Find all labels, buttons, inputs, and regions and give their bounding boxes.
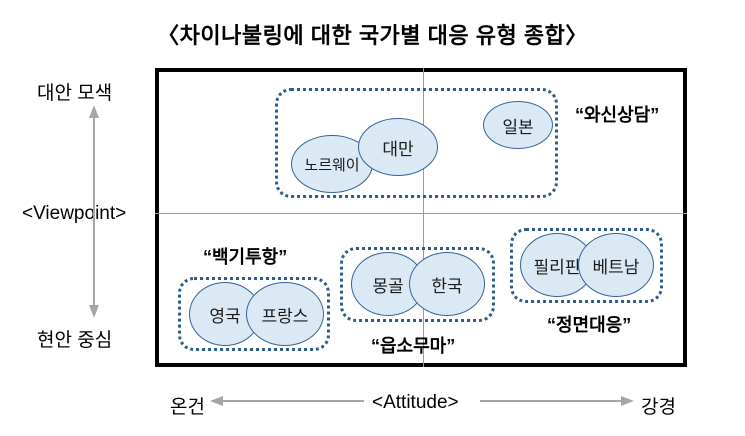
node-france[interactable]: 프랑스 <box>246 282 324 346</box>
group-caption-bottom-right: “정면대응” <box>547 311 631 337</box>
group-caption-bottom-left: “백기투항” <box>203 243 287 269</box>
group-caption-bottom-center: “읍소무마” <box>371 332 455 358</box>
node-label: 영국 <box>209 302 240 327</box>
node-label: 한국 <box>431 272 462 297</box>
node-japan[interactable]: 일본 <box>483 101 553 149</box>
x-axis-right-arrow-icon <box>480 393 635 409</box>
node-taiwan[interactable]: 대만 <box>358 118 438 176</box>
node-label: 프랑스 <box>262 302 309 327</box>
x-axis-left-label: 온건 <box>170 392 205 419</box>
x-axis-right-label: 강경 <box>641 392 676 419</box>
node-label: 노르웨이 <box>304 154 359 175</box>
quadrant-line-horizontal <box>155 213 687 214</box>
y-axis-top-label: 대안 모색 <box>37 78 112 105</box>
page-title: 〈차이나불링에 대한 국가별 대응 유형 종합〉 <box>0 18 745 50</box>
node-label: 몽골 <box>372 272 403 297</box>
node-vietnam[interactable]: 베트남 <box>578 233 654 297</box>
y-axis-double-arrow-icon <box>86 104 102 319</box>
node-label: 일본 <box>502 113 533 138</box>
group-caption-top: “와신상담” <box>575 101 659 127</box>
y-axis-title: <Viewpoint> <box>22 203 126 225</box>
y-axis-bottom-label: 현안 중심 <box>37 325 112 352</box>
node-label: 베트남 <box>593 253 640 278</box>
node-label: 대만 <box>382 135 413 160</box>
node-label: 필리핀 <box>534 253 581 278</box>
x-axis-left-arrow-icon <box>209 393 364 409</box>
diagram-canvas: 〈차이나불링에 대한 국가별 대응 유형 종합〉 대안 모색 <Viewpoin… <box>0 0 745 436</box>
node-korea[interactable]: 한국 <box>409 252 485 316</box>
x-axis-title: <Attitude> <box>372 392 459 414</box>
